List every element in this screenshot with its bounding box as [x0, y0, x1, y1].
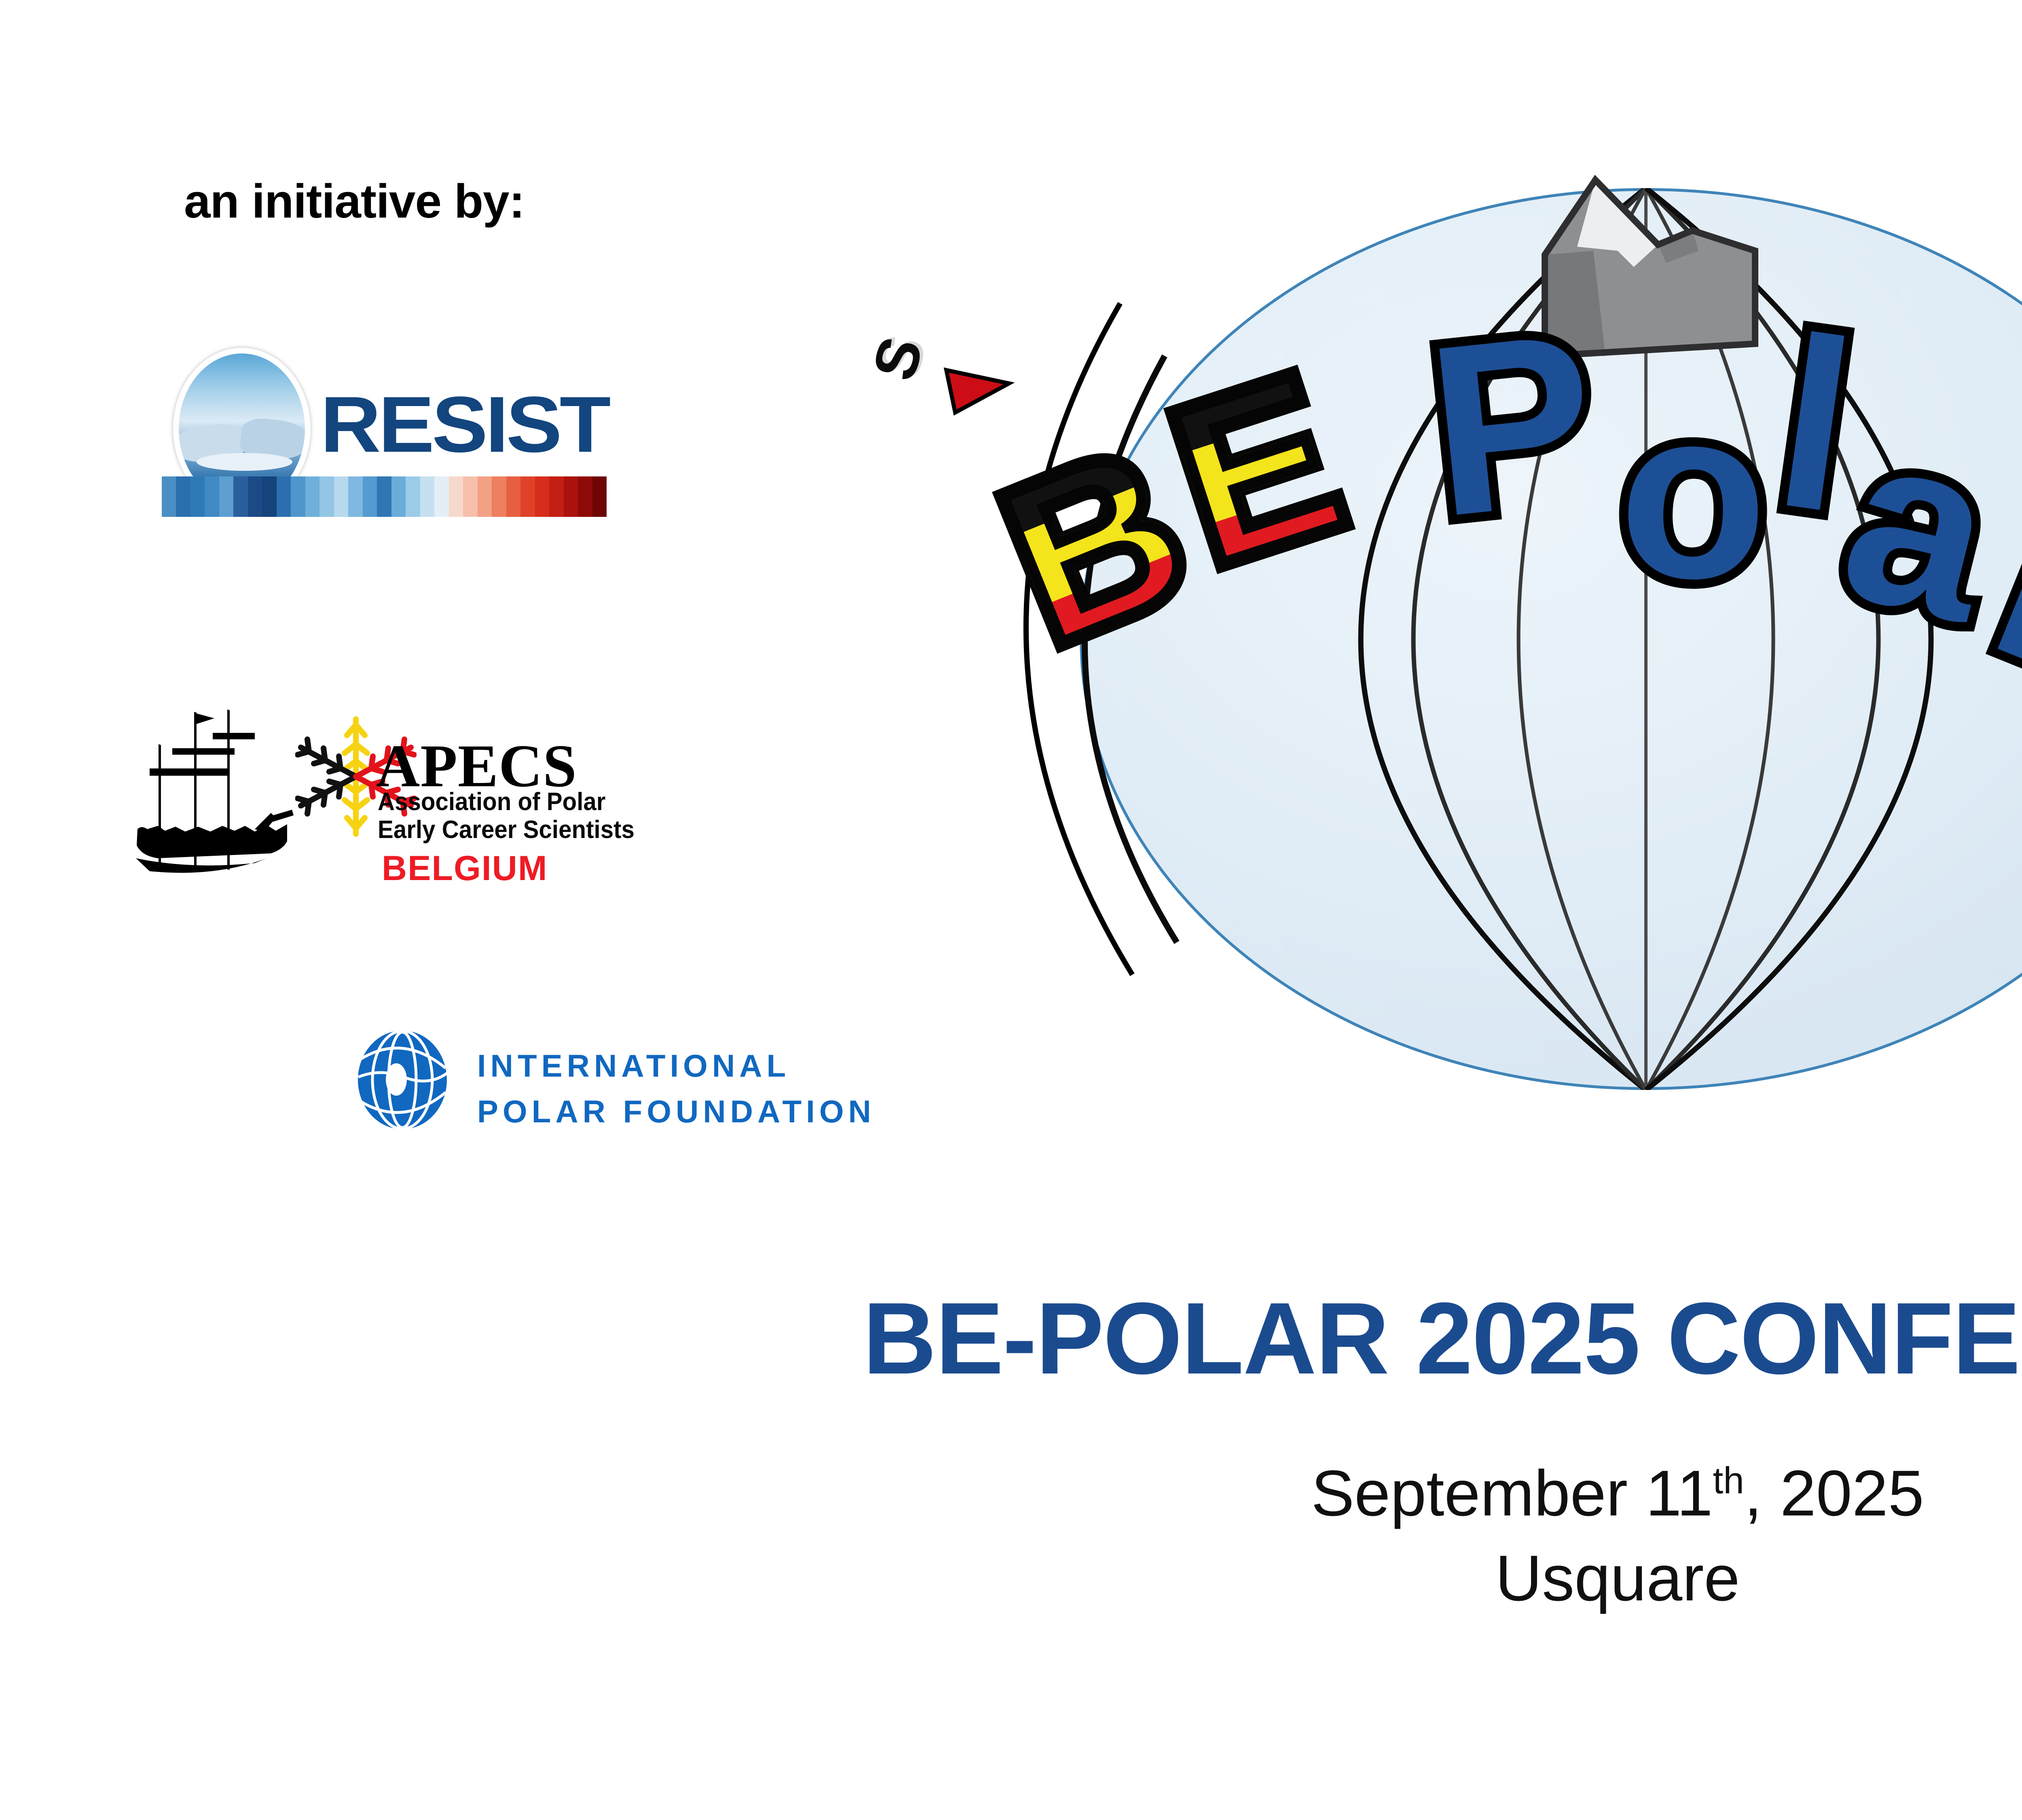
ipf-line1: INTERNATIONAL: [477, 1043, 876, 1089]
conference-date: September 11th, 2025: [0, 1456, 2022, 1530]
conference-venue: Usquare: [0, 1541, 2022, 1615]
warming-stripes-icon: [162, 476, 607, 517]
logo-apecs-belgium: APECS Association of Polar Early Career …: [133, 696, 700, 906]
conference-date-ordinal: th: [1713, 1460, 1744, 1502]
conference-date-main: September 11: [1311, 1457, 1713, 1529]
resist-wordmark: RESIST: [320, 385, 608, 464]
apecs-country-label: BELGIUM: [382, 849, 548, 889]
compass-arrow-south: [946, 370, 1009, 413]
apecs-tagline: Association of Polar Early Career Scient…: [378, 788, 635, 844]
ipf-wordmark: INTERNATIONAL POLAR FOUNDATION: [477, 1043, 876, 1134]
initiative-by-heading: an initiative by:: [184, 174, 525, 229]
apecs-tagline-line1: Association of Polar: [378, 788, 635, 816]
logo-resist: RESIST: [162, 348, 639, 518]
conference-date-year: , 2025: [1744, 1457, 1924, 1529]
be-polar-globe-logo: B B E E P P o o l l a a r r S N: [825, 129, 2022, 1120]
ipf-globe-icon: [356, 1029, 449, 1130]
apecs-tagline-line2: Early Career Scientists: [378, 816, 635, 844]
ipf-line2: POLAR FOUNDATION: [477, 1089, 876, 1134]
page-title: BE-POLAR 2025 CONFERENCE: [0, 1280, 2022, 1397]
